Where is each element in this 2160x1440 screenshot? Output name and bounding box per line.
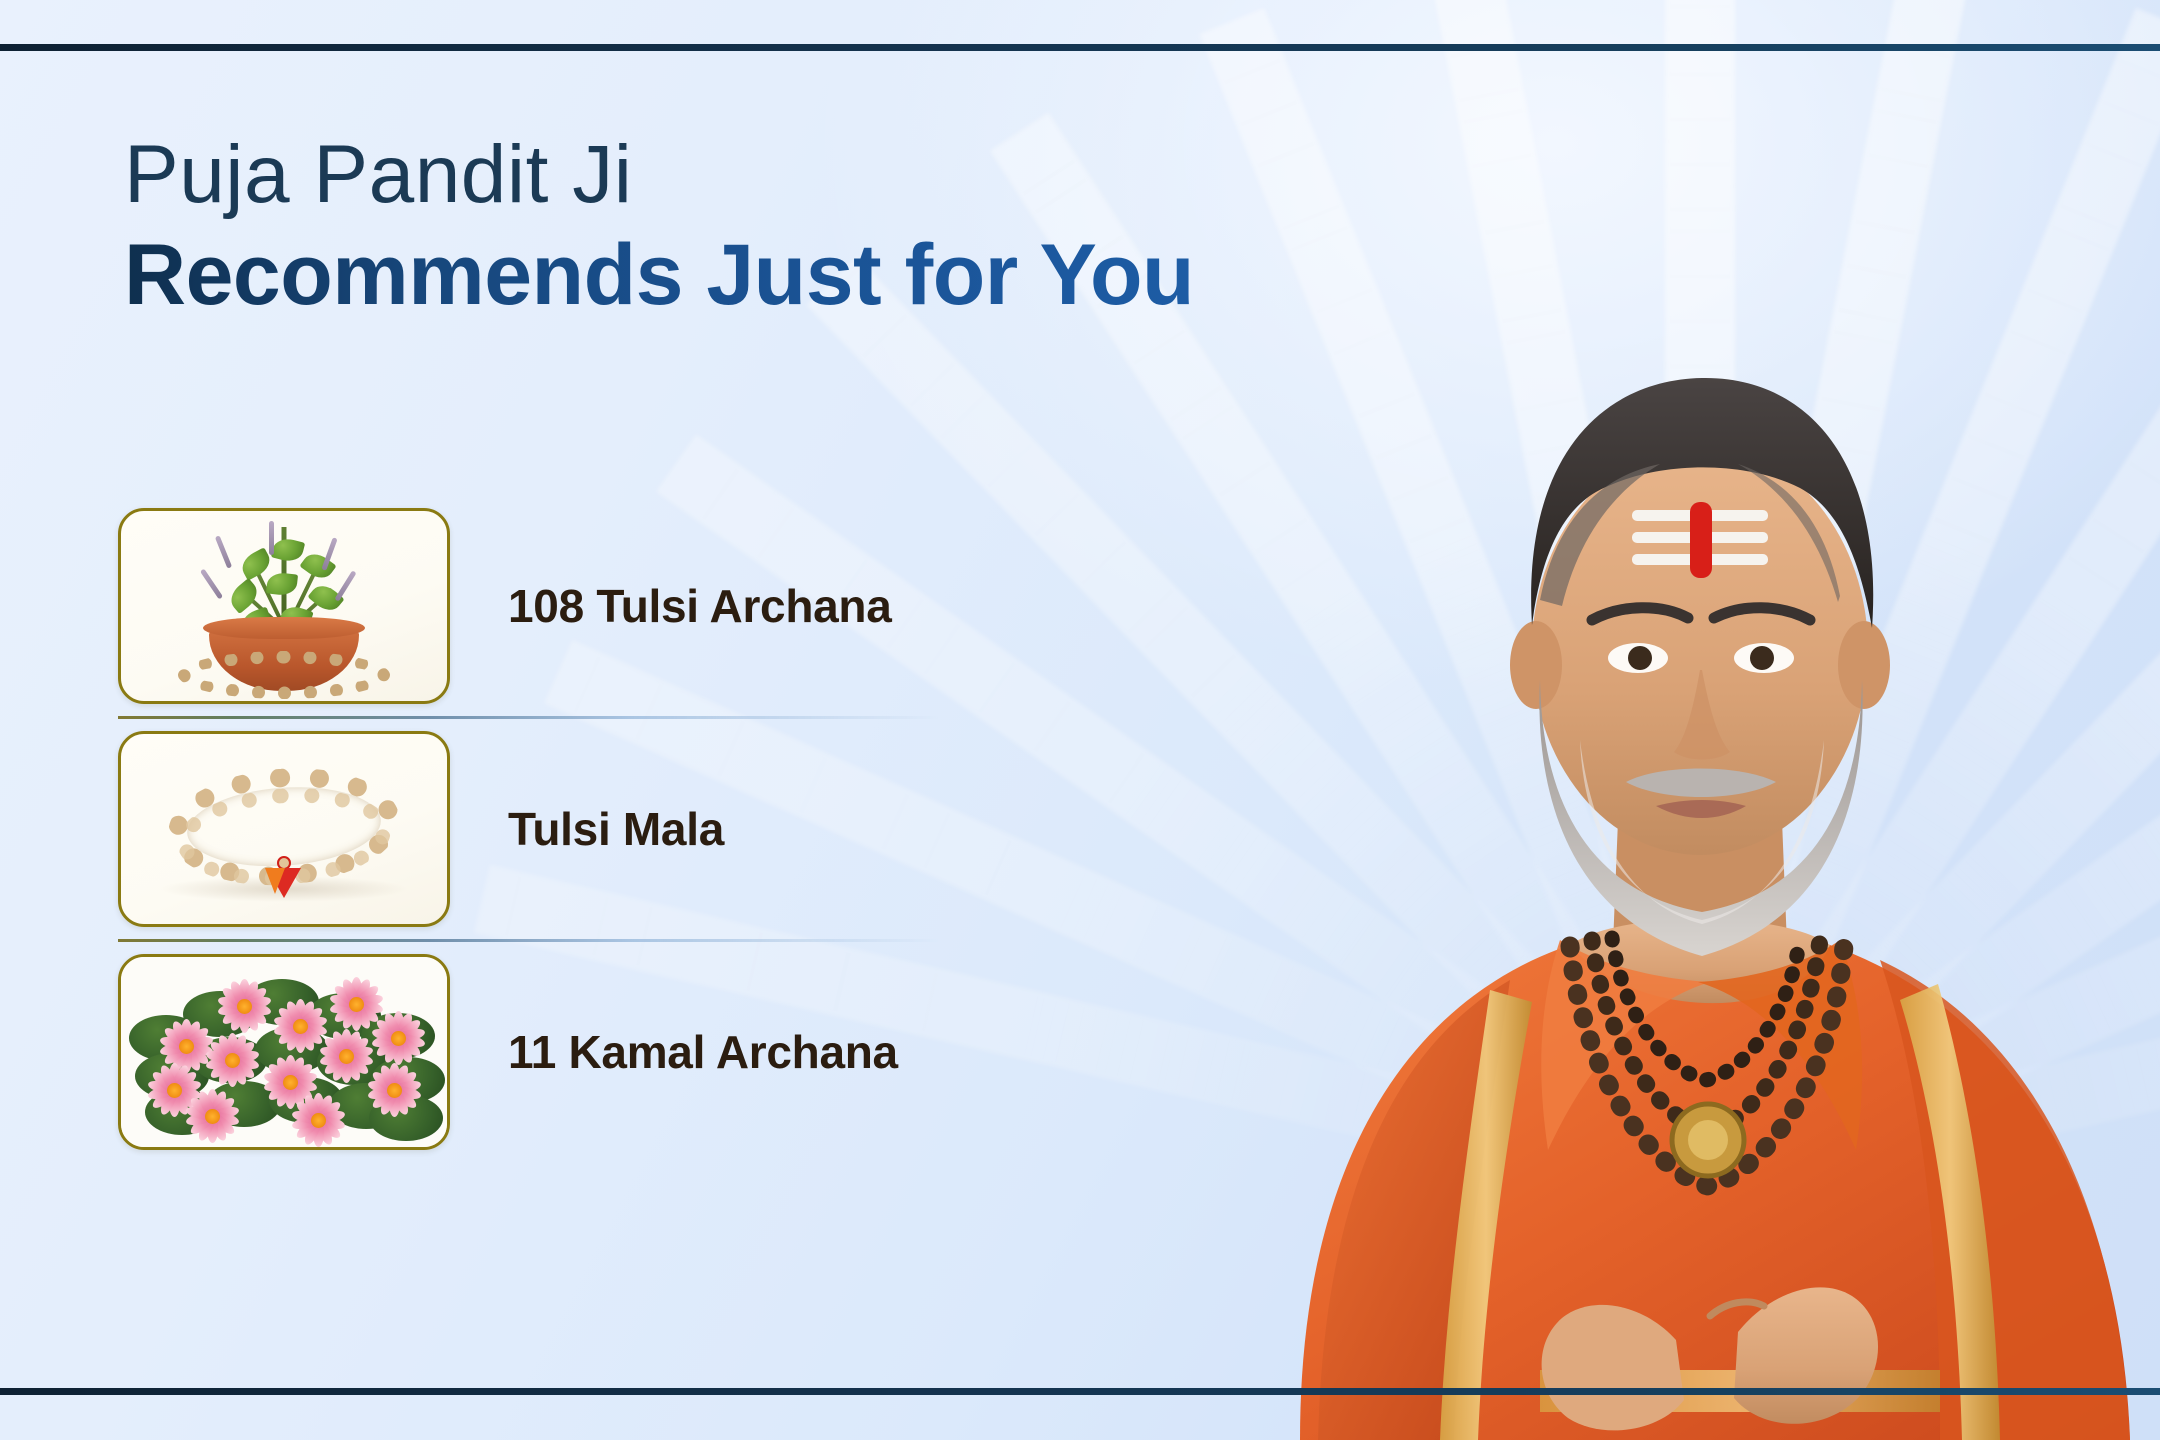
list-item-label: 108 Tulsi Archana [508,579,892,633]
tulsi-mala-icon [121,734,447,924]
ray-line [1680,434,2160,1208]
kamal-lotus-thumbnail[interactable] [118,954,450,1150]
sun-ray-fan-decoration [1050,0,2160,1180]
headline-block: Puja Pandit Ji Recommends Just for You [124,132,1194,320]
lotus-flower [203,1031,261,1089]
lotus-flowers-icon [121,957,447,1147]
ray-line [1686,640,2160,1212]
list-item[interactable]: 108 Tulsi Archana [118,496,1018,716]
ray-line [1692,865,2160,1214]
list-item-label: Tulsi Mala [508,802,724,856]
pandit-ji-portrait [1240,40,2160,1440]
lotus-flower [369,1009,427,1067]
top-rule-divider [0,44,2160,51]
ray-line [1671,113,2160,1199]
ray-line [1668,8,2160,1193]
list-item-label: 11 Kamal Archana [508,1025,898,1079]
list-item[interactable]: 11 Kamal Archana [118,942,1018,1162]
tulsi-mala-thumbnail[interactable] [118,731,450,927]
lotus-flower [183,1087,241,1145]
tulsi-plant-thumbnail[interactable] [118,508,450,704]
headline-line-1: Puja Pandit Ji [124,132,1194,218]
lotus-flower [289,1091,347,1149]
ray-line [1199,8,1732,1193]
lotus-flower [365,1061,423,1119]
tulsi-plant-icon [121,511,447,701]
bottom-rule-divider [0,1388,2160,1395]
list-divider [118,716,938,719]
recommendation-list: 108 Tulsi Archana Tulsi Mala 11 Ka [118,496,1018,1162]
ray-line [1427,0,1734,1187]
headline-line-2: Recommends Just for You [124,230,1194,320]
puja-recommendation-banner: Puja Pandit Ji Recommends Just for You [0,0,2160,1440]
ray-line [1675,257,2160,1205]
list-divider [118,939,938,942]
ray-line [1666,0,1973,1187]
list-item[interactable]: Tulsi Mala [118,719,1018,939]
ray-line [1665,0,1735,1180]
lotus-flower [215,977,273,1035]
